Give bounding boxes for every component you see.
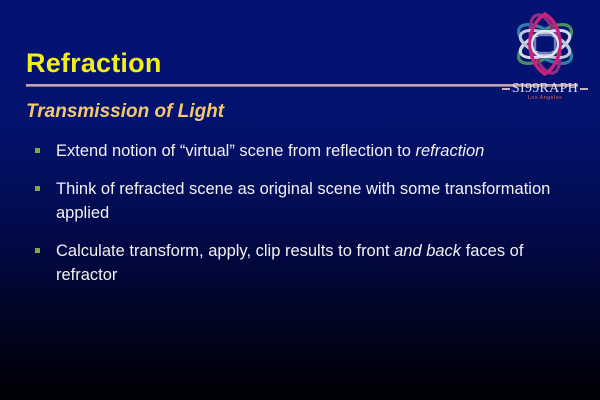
page-title: Refraction (26, 48, 162, 79)
plain-text: Extend notion of “virtual” scene from re… (56, 142, 416, 160)
siggraph-city-label: Los Angeles (495, 95, 595, 101)
emphasis-text: and back (394, 242, 461, 260)
bullet-dot-icon (35, 248, 40, 253)
bullet-dot-icon (35, 148, 40, 153)
list-item: Extend notion of “virtual” scene from re… (30, 139, 575, 163)
plain-text: Think of refracted scene as original sce… (56, 180, 550, 222)
list-item: Calculate transform, apply, clip results… (30, 239, 575, 287)
bullet-dot-icon (35, 186, 40, 191)
wordmark-left-dash (502, 88, 510, 90)
siggraph-rings-logo (495, 8, 595, 80)
list-item: Think of refracted scene as original sce… (30, 177, 575, 225)
plain-text: Calculate transform, apply, clip results… (56, 242, 394, 260)
list-item-text: Extend notion of “virtual” scene from re… (56, 142, 484, 160)
list-item-text: Think of refracted scene as original sce… (56, 180, 550, 222)
emphasis-text: refraction (416, 142, 485, 160)
wordmark-text: SI99RAPH (512, 81, 578, 96)
presentation-slide: Refraction Transmission of Light Extend … (0, 0, 600, 400)
bullet-list: Extend notion of “virtual” scene from re… (30, 139, 575, 301)
slide-subtitle: Transmission of Light (26, 101, 224, 123)
wordmark-right-dash (580, 88, 588, 90)
siggraph-logo: SI99RAPH Los Angeles (495, 8, 595, 103)
list-item-text: Calculate transform, apply, clip results… (56, 242, 523, 284)
